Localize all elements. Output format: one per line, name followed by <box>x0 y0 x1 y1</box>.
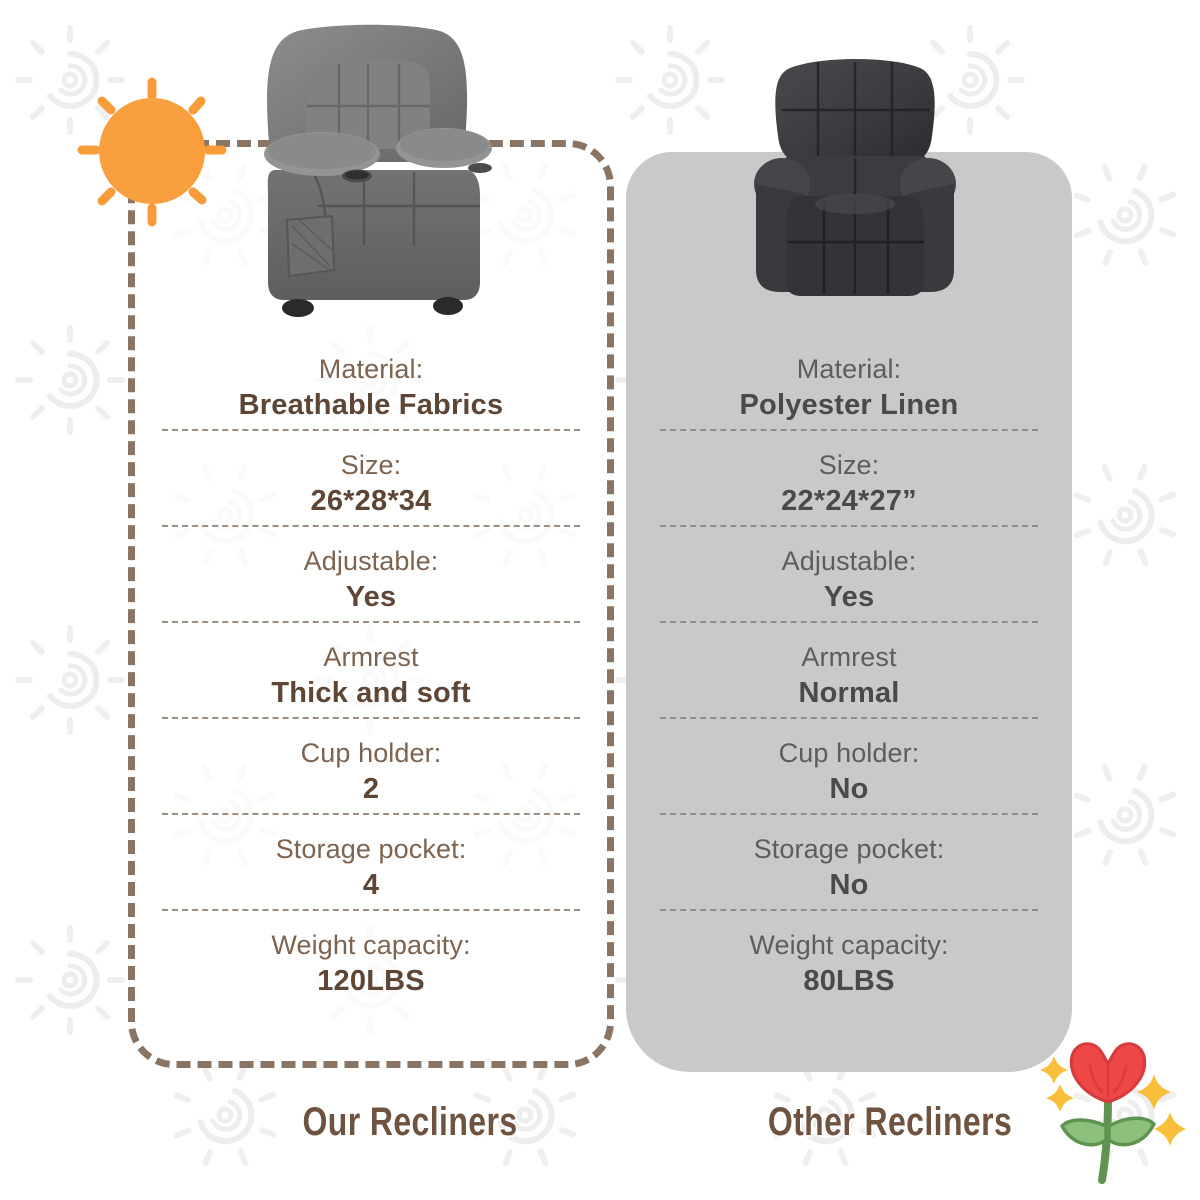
spec-row: Adjustable: Yes <box>162 525 580 621</box>
other-recliners-title: Other Recliners <box>722 1100 1058 1145</box>
spec-value: 22*24*27” <box>660 483 1038 519</box>
spec-row: Armrest Normal <box>660 621 1038 717</box>
spec-label: Size: <box>660 448 1038 483</box>
spec-label: Adjustable: <box>660 544 1038 579</box>
spec-label: Weight capacity: <box>162 928 580 963</box>
spec-row: Weight capacity: 80LBS <box>660 909 1038 1005</box>
spec-label: Armrest <box>162 640 580 675</box>
spec-row: Weight capacity: 120LBS <box>162 909 580 1005</box>
our-recliners-title: Our Recliners <box>242 1100 578 1145</box>
spec-label: Adjustable: <box>162 544 580 579</box>
spec-row: Cup holder: 2 <box>162 717 580 813</box>
spec-row: Size: 22*24*27” <box>660 429 1038 525</box>
comparison-infographic: Material: Breathable Fabrics Size: 26*28… <box>0 0 1200 1200</box>
spec-value: 26*28*34 <box>162 483 580 519</box>
spec-row: Material: Breathable Fabrics <box>162 352 580 429</box>
spec-label: Cup holder: <box>162 736 580 771</box>
spec-value: No <box>660 867 1038 903</box>
spec-label: Cup holder: <box>660 736 1038 771</box>
sun-icon <box>74 74 230 230</box>
spec-label: Material: <box>162 352 580 387</box>
spec-value: Breathable Fabrics <box>162 387 580 423</box>
spec-row: Storage pocket: No <box>660 813 1038 909</box>
spec-value: 80LBS <box>660 963 1038 999</box>
spec-row: Adjustable: Yes <box>660 525 1038 621</box>
spec-row: Storage pocket: 4 <box>162 813 580 909</box>
spec-label: Armrest <box>660 640 1038 675</box>
spec-row: Cup holder: No <box>660 717 1038 813</box>
spec-value: No <box>660 771 1038 807</box>
our-recliners-spec-list: Material: Breathable Fabrics Size: 26*28… <box>162 352 580 1005</box>
spec-row: Material: Polyester Linen <box>660 352 1038 429</box>
spec-label: Size: <box>162 448 580 483</box>
other-recliner-product-image <box>742 44 968 312</box>
spec-value: Thick and soft <box>162 675 580 711</box>
spec-value: Yes <box>162 579 580 615</box>
spec-label: Material: <box>660 352 1038 387</box>
spec-label: Storage pocket: <box>660 832 1038 867</box>
spec-value: 2 <box>162 771 580 807</box>
spec-label: Storage pocket: <box>162 832 580 867</box>
our-recliner-product-image <box>244 20 498 320</box>
spec-value: Yes <box>660 579 1038 615</box>
spec-row: Size: 26*28*34 <box>162 429 580 525</box>
other-recliners-spec-list: Material: Polyester Linen Size: 22*24*27… <box>660 352 1038 1005</box>
spec-label: Weight capacity: <box>660 928 1038 963</box>
spec-row: Armrest Thick and soft <box>162 621 580 717</box>
spec-value: Polyester Linen <box>660 387 1038 423</box>
spec-value: Normal <box>660 675 1038 711</box>
tulip-flower-icon <box>1038 1040 1198 1196</box>
spec-value: 120LBS <box>162 963 580 999</box>
spec-value: 4 <box>162 867 580 903</box>
